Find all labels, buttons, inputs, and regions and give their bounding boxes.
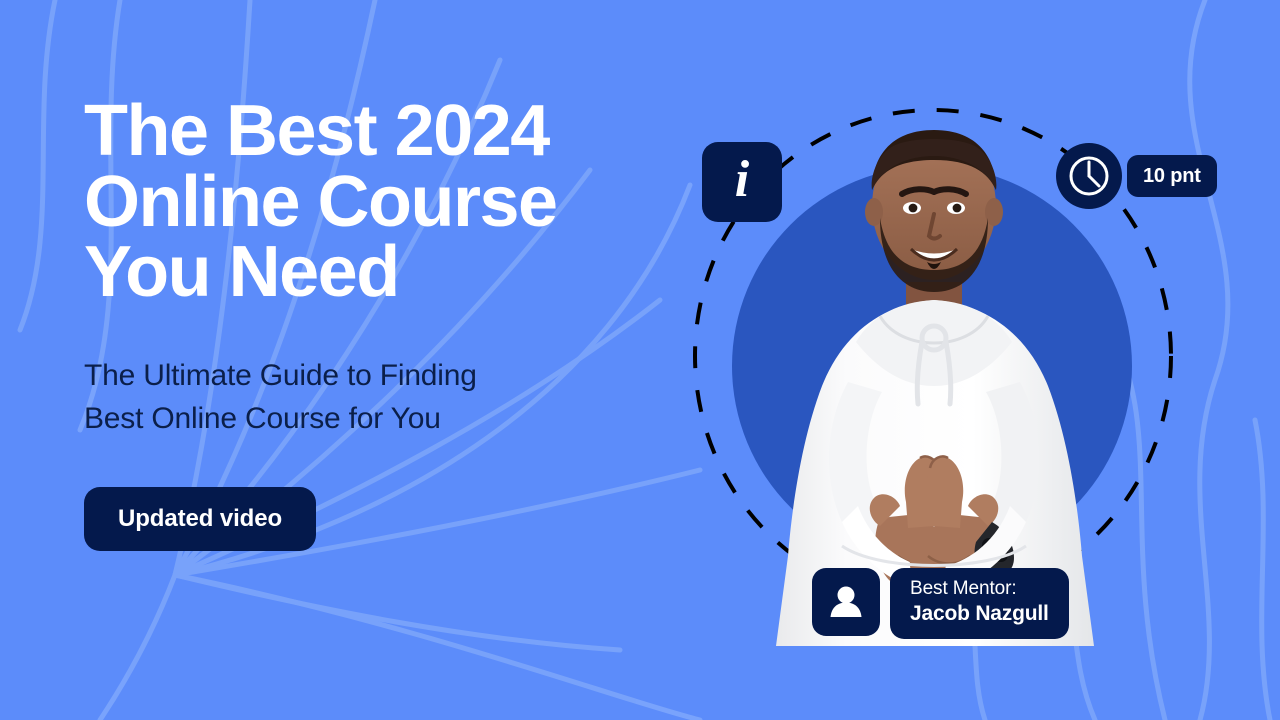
points-label: 10 pnt bbox=[1143, 165, 1201, 188]
page-title: The Best 2024 Online Course You Need bbox=[84, 96, 684, 308]
hero-subtitle: The Ultimate Guide to Finding Best Onlin… bbox=[84, 308, 684, 441]
mentor-name: Jacob Nazgull bbox=[910, 601, 1049, 628]
clock-badge[interactable] bbox=[1056, 143, 1122, 209]
hero-text-column: The Best 2024 Online Course You Need The… bbox=[84, 96, 684, 551]
person-icon bbox=[826, 582, 866, 622]
info-badge[interactable]: i bbox=[702, 142, 782, 222]
updated-video-button[interactable]: Updated video bbox=[84, 487, 316, 551]
info-icon: i bbox=[735, 154, 749, 210]
avatar-badge[interactable] bbox=[812, 568, 880, 636]
mentor-badge[interactable]: Best Mentor: Jacob Nazgull bbox=[890, 568, 1069, 639]
clock-icon bbox=[1066, 153, 1112, 199]
course-promo-banner: The Best 2024 Online Course You Need The… bbox=[0, 0, 1280, 720]
points-badge[interactable]: 10 pnt bbox=[1127, 155, 1217, 197]
mentor-role-label: Best Mentor: bbox=[910, 577, 1049, 601]
